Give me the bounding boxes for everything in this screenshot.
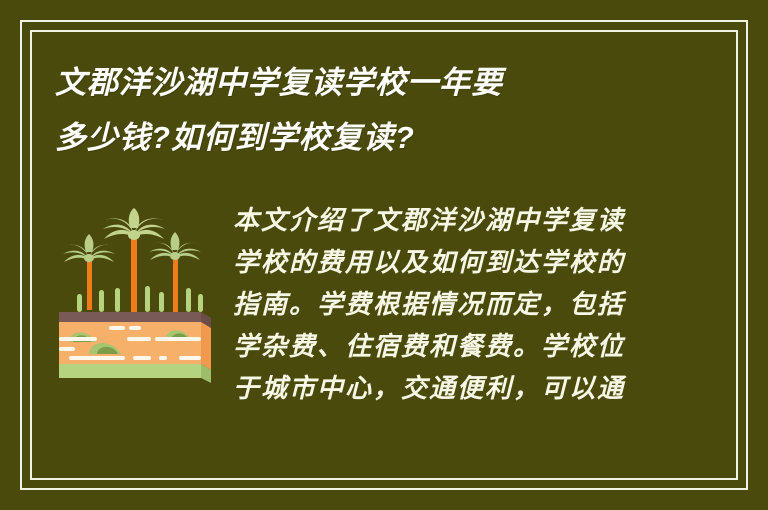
title-line-1: 文郡洋沙湖中学复读学校一年要	[55, 55, 655, 110]
content-area: 本文介绍了文郡洋沙湖中学复读 学校的费用以及如何到达学校的 指南。学费根据情况而…	[55, 200, 723, 465]
oasis-palm-trees-icon	[55, 208, 215, 383]
body-line-2: 学校的费用以及如何到达学校的	[233, 242, 723, 284]
page-title: 文郡洋沙湖中学复读学校一年要 多少钱?如何到学校复读?	[55, 55, 655, 165]
poster-canvas: 文郡洋沙湖中学复读学校一年要 多少钱?如何到学校复读?	[0, 0, 768, 510]
title-line-2: 多少钱?如何到学校复读?	[55, 110, 655, 165]
body-line-3: 指南。学费根据情况而定，包括	[233, 284, 723, 326]
article-summary-text: 本文介绍了文郡洋沙湖中学复读 学校的费用以及如何到达学校的 指南。学费根据情况而…	[233, 200, 723, 450]
body-line-4: 学杂费、住宿费和餐费。学校位	[233, 326, 723, 368]
body-line-1: 本文介绍了文郡洋沙湖中学复读	[233, 200, 723, 242]
body-line-5: 于城市中心，交通便利，可以通	[233, 368, 723, 410]
